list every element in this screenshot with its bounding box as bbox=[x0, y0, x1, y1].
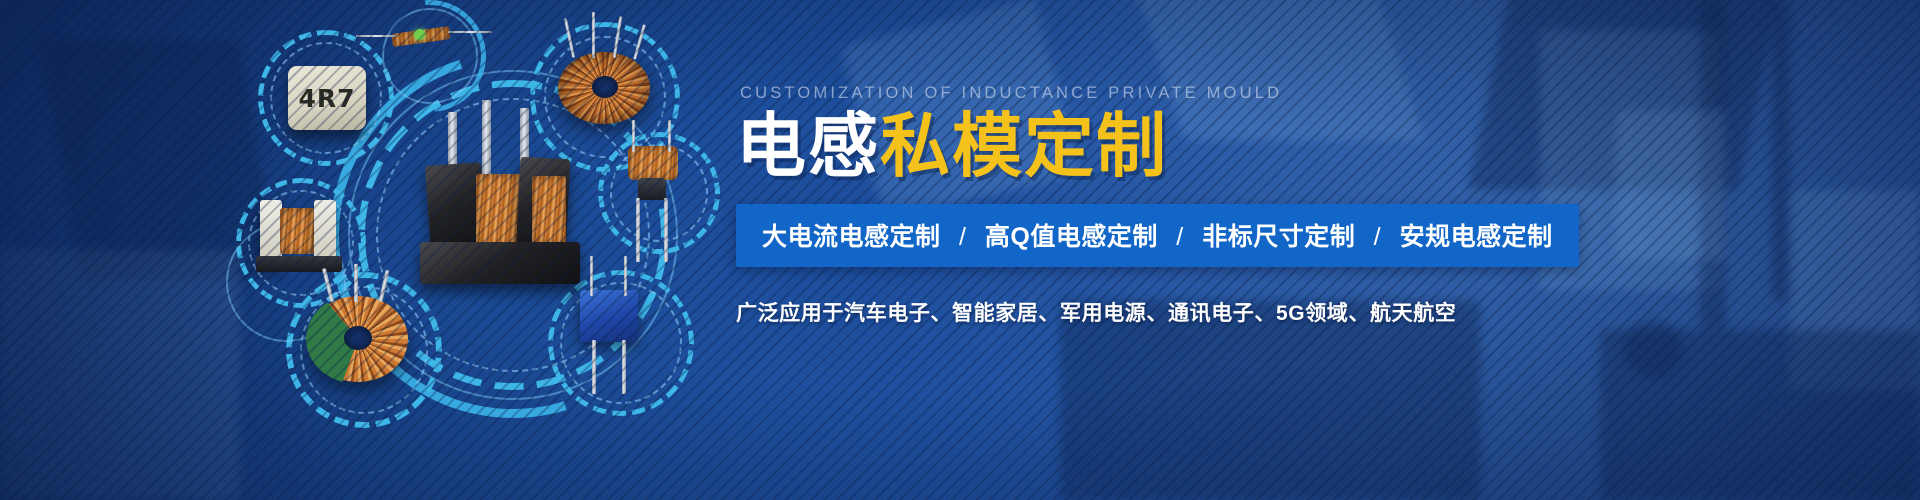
banner-tagline: 广泛应用于汽车电子、智能家居、军用电源、通讯电子、5G领域、航天航空 bbox=[736, 297, 1876, 327]
feature-item-3: 非标尺寸定制 bbox=[1202, 223, 1355, 251]
feature-bar: 大电流电感定制 / 高Q值电感定制 / 非标尺寸定制 / 安规电感定制 bbox=[736, 204, 1579, 267]
banner-eyebrow-text: CUSTOMIZATION OF INDUCTANCE PRIVATE MOUL… bbox=[740, 84, 1876, 103]
feature-separator-2: / bbox=[1165, 223, 1194, 251]
feature-item-1: 大电流电感定制 bbox=[762, 223, 941, 251]
feature-separator-3: / bbox=[1363, 223, 1392, 251]
feature-separator-1: / bbox=[948, 223, 977, 251]
headline-yellow-part: 私模定制 bbox=[880, 105, 1168, 187]
feature-item-2: 高Q值电感定制 bbox=[985, 223, 1158, 251]
banner-headline: 电感私模定制 bbox=[736, 111, 1876, 182]
product-banner: 4R7 bbox=[0, 0, 1920, 500]
feature-item-4: 安规电感定制 bbox=[1400, 223, 1553, 251]
feature-list: 大电流电感定制 / 高Q值电感定制 / 非标尺寸定制 / 安规电感定制 bbox=[762, 217, 1553, 253]
headline-white-part: 电感 bbox=[736, 105, 880, 187]
banner-content: CUSTOMIZATION OF INDUCTANCE PRIVATE MOUL… bbox=[736, 84, 1876, 327]
